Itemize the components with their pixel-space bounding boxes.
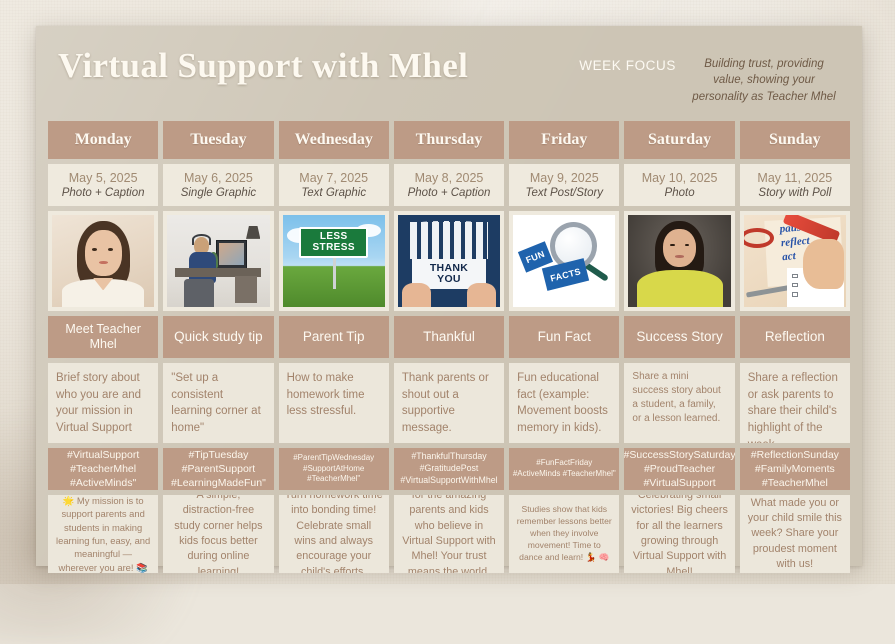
date-text: May 10, 2025 bbox=[642, 171, 718, 185]
photo-cell-wednesday[interactable]: LESS STRESS bbox=[279, 211, 389, 311]
hashtags-thursday[interactable]: #ThankfulThursday #GratitudePost #Virtua… bbox=[394, 448, 504, 490]
day-header-monday[interactable]: Monday bbox=[48, 121, 158, 159]
date-text: May 9, 2025 bbox=[530, 171, 599, 185]
hashtags-tuesday[interactable]: #TipTuesday #ParentSupport #LearningMade… bbox=[163, 448, 273, 490]
description-friday: Fun educational fact (example: Movement … bbox=[509, 363, 619, 443]
date-text: May 5, 2025 bbox=[69, 171, 138, 185]
teacher-in-yellow-shirt-photo bbox=[628, 215, 730, 307]
hashtags-sunday[interactable]: #ReflectionSunday #FamilyMoments #Teache… bbox=[740, 448, 850, 490]
card-line-2: YOU bbox=[437, 274, 461, 285]
child-at-laptop-desk-photo bbox=[167, 215, 269, 307]
day-header-wednesday[interactable]: Wednesday bbox=[279, 121, 389, 159]
week-focus-block: WEEK FOCUS Building trust, providing val… bbox=[579, 56, 840, 105]
day-header-tuesday[interactable]: Tuesday bbox=[163, 121, 273, 159]
week-focus-label: WEEK FOCUS bbox=[579, 56, 676, 73]
date-cell-tuesday: May 6, 2025 Single Graphic bbox=[163, 164, 273, 206]
content-calendar-card: Virtual Support with Mhel WEEK FOCUS Bui… bbox=[36, 26, 862, 566]
caption-monday: 🌟 My mission is to support parents and s… bbox=[48, 495, 158, 573]
thank-you-card-photo: THANK YOU bbox=[398, 215, 500, 307]
date-cell-saturday: May 10, 2025 Photo bbox=[624, 164, 734, 206]
hashtags-friday[interactable]: #FunFactFriday #ActiveMinds #TeacherMhel… bbox=[509, 448, 619, 490]
date-cell-friday: May 9, 2025 Text Post/Story bbox=[509, 164, 619, 206]
content-type-text: Story with Poll bbox=[758, 187, 831, 199]
day-header-thursday[interactable]: Thursday bbox=[394, 121, 504, 159]
hashtags-saturday[interactable]: #SuccessStorySaturday #ProudTeacher #Vir… bbox=[624, 448, 734, 490]
topic-friday[interactable]: Fun Fact bbox=[509, 316, 619, 358]
week-focus-text: Building trust, providing value, showing… bbox=[688, 56, 840, 105]
description-sunday: Share a reflection or ask parents to sha… bbox=[740, 363, 850, 443]
content-type-text: Text Graphic bbox=[301, 187, 366, 199]
description-wednesday: How to make homework time less stressful… bbox=[279, 363, 389, 443]
caption-thursday: Today, I'm thankful for the amazing pare… bbox=[394, 495, 504, 573]
date-text: May 6, 2025 bbox=[184, 171, 253, 185]
date-text: May 11, 2025 bbox=[757, 171, 832, 185]
content-type-text: Text Post/Story bbox=[526, 187, 604, 199]
sign-line-2: STRESS bbox=[312, 243, 354, 253]
portrait-of-teacher-photo bbox=[52, 215, 154, 307]
date-text: May 7, 2025 bbox=[299, 171, 368, 185]
calendar-grid: Monday Tuesday Wednesday Thursday Friday… bbox=[48, 121, 850, 573]
day-header-sunday[interactable]: Sunday bbox=[740, 121, 850, 159]
photo-cell-friday[interactable]: FUN FACTS bbox=[509, 211, 619, 311]
pause-reflect-act-notebook-photo: pausereflectact bbox=[744, 215, 846, 307]
content-type-text: Photo + Caption bbox=[62, 187, 145, 199]
content-type-text: Single Graphic bbox=[181, 187, 256, 199]
description-thursday: Thank parents or shout out a supportive … bbox=[394, 363, 504, 443]
photo-cell-sunday[interactable]: pausereflectact bbox=[740, 211, 850, 311]
topic-sunday[interactable]: Reflection bbox=[740, 316, 850, 358]
topic-wednesday[interactable]: Parent Tip bbox=[279, 316, 389, 358]
description-saturday: Share a mini success story about a stude… bbox=[624, 363, 734, 443]
page-title: Virtual Support with Mhel bbox=[58, 48, 468, 85]
caption-tuesday: A simple, distraction-free study corner … bbox=[163, 495, 273, 573]
date-text: May 8, 2025 bbox=[415, 171, 484, 185]
topic-tuesday[interactable]: Quick study tip bbox=[163, 316, 273, 358]
photo-cell-saturday[interactable] bbox=[624, 211, 734, 311]
caption-sunday: What made you or your child smile this w… bbox=[740, 495, 850, 573]
description-monday: Brief story about who you are and your m… bbox=[48, 363, 158, 443]
hashtags-monday[interactable]: #VirtualSupport #TeacherMhel #ActiveMind… bbox=[48, 448, 158, 490]
photo-cell-monday[interactable] bbox=[48, 211, 158, 311]
topic-thursday[interactable]: Thankful bbox=[394, 316, 504, 358]
calendar-header: Virtual Support with Mhel WEEK FOCUS Bui… bbox=[48, 40, 850, 121]
photo-cell-tuesday[interactable] bbox=[163, 211, 273, 311]
date-cell-sunday: May 11, 2025 Story with Poll bbox=[740, 164, 850, 206]
caption-wednesday: Turn homework time into bonding time! Ce… bbox=[279, 495, 389, 573]
date-cell-thursday: May 8, 2025 Photo + Caption bbox=[394, 164, 504, 206]
date-cell-wednesday: May 7, 2025 Text Graphic bbox=[279, 164, 389, 206]
topic-saturday[interactable]: Success Story bbox=[624, 316, 734, 358]
date-cell-monday: May 5, 2025 Photo + Caption bbox=[48, 164, 158, 206]
hashtags-wednesday[interactable]: #ParentTipWednesday #SupportAtHome #Teac… bbox=[279, 448, 389, 490]
topic-monday[interactable]: Meet Teacher Mhel bbox=[48, 316, 158, 358]
caption-saturday: Celebrating small victories! Big cheers … bbox=[624, 495, 734, 573]
content-type-text: Photo bbox=[665, 187, 695, 199]
caption-friday: Studies show that kids remember lessons … bbox=[509, 495, 619, 573]
less-stress-road-sign-photo: LESS STRESS bbox=[283, 215, 385, 307]
content-type-text: Photo + Caption bbox=[408, 187, 491, 199]
day-header-saturday[interactable]: Saturday bbox=[624, 121, 734, 159]
sign-board: LESS STRESS bbox=[299, 227, 369, 258]
photo-cell-thursday[interactable]: THANK YOU bbox=[394, 211, 504, 311]
fun-facts-magnifier-photo: FUN FACTS bbox=[513, 215, 615, 307]
day-header-friday[interactable]: Friday bbox=[509, 121, 619, 159]
description-tuesday: "Set up a consistent learning corner at … bbox=[163, 363, 273, 443]
